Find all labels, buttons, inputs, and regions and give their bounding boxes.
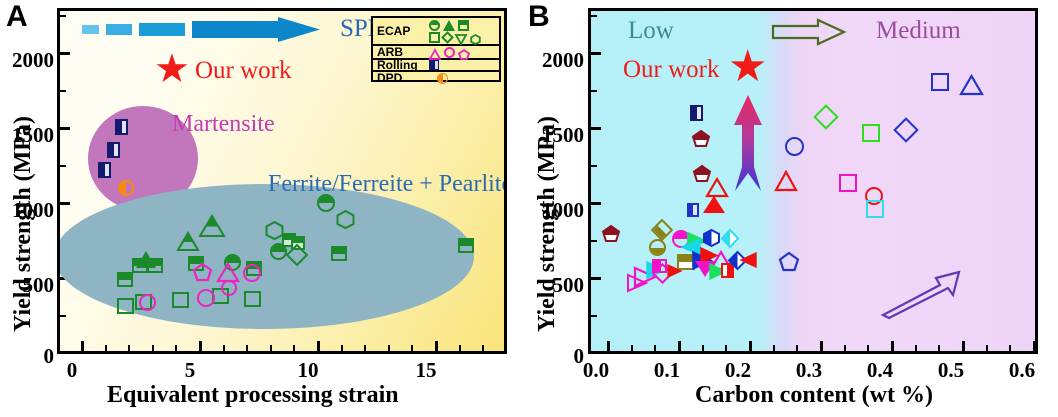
ytick-minor (590, 315, 597, 317)
legend-markers-rolling (429, 60, 439, 70)
transition-arrow-icon (771, 19, 846, 45)
ytick-minor (59, 15, 66, 17)
xtick-minor (1009, 345, 1011, 352)
xtick-minor (246, 345, 248, 352)
panel-b-x-tick-04: 0.4 (850, 358, 910, 383)
panel-b-x-axis-title: Carbon content (wt %) (695, 382, 933, 409)
xtick-minor (223, 345, 225, 352)
ytick-major (59, 352, 70, 354)
marker-triangle-up-filled-icon (443, 20, 455, 31)
xtick-minor (844, 345, 846, 352)
panel-a-y-tick-1500: 1500 (0, 123, 54, 148)
ytick-minor (590, 15, 597, 17)
data-point-ecap-circle-half (317, 194, 335, 212)
ytick-minor (590, 90, 597, 92)
data-point-arb-pentagon (193, 263, 212, 281)
panel-b-y-tick-500: 500 (514, 273, 584, 298)
data-point-triangle-blue-open (960, 75, 983, 95)
data-point-circle-olive-half (649, 239, 666, 256)
xtick-major (607, 341, 610, 352)
xtick-minor (388, 345, 390, 352)
xtick-minor (175, 345, 177, 352)
data-point-dpd (118, 180, 134, 196)
panel-b-x-tick-03: 0.3 (779, 358, 839, 383)
trend-arrow-icon (881, 269, 963, 319)
medium-band-label: Medium (876, 17, 961, 45)
improvement-arrow-icon (731, 95, 765, 191)
xtick-minor (773, 345, 775, 352)
data-point-rolling (115, 119, 128, 135)
xtick-minor (867, 345, 869, 352)
data-point-pentagon-blue-open (779, 252, 799, 271)
panel-b-x-tick-02: 0.2 (708, 358, 768, 383)
panel-b-letter: B (528, 2, 550, 32)
marker-square-half-left-icon (429, 60, 439, 70)
spd-arrow (82, 17, 332, 43)
panel-a-letter: A (6, 2, 28, 32)
data-point-ecap-square-open (117, 298, 134, 314)
marker-circle-open-icon (444, 47, 455, 58)
legend-label-arb: ARB (373, 45, 429, 59)
panel-b-y-tick-1500: 1500 (514, 123, 584, 148)
marker-circle-half-top-icon (429, 20, 440, 31)
xtick-major (81, 341, 84, 352)
xtick-major (820, 341, 823, 352)
ytick-minor (59, 165, 66, 167)
xtick-minor (341, 345, 343, 352)
xtick-minor (364, 345, 366, 352)
xtick-major (435, 341, 438, 352)
our-work-label-a: Our work (195, 57, 292, 85)
ytick-minor (590, 240, 597, 242)
xtick-major (678, 341, 681, 352)
data-point-ecap-hexagon (336, 210, 355, 229)
data-point-rolling-navy (690, 105, 703, 121)
panel-b-x-tick-01: 0.1 (637, 358, 697, 383)
panel-a-y-tick-2000: 2000 (0, 48, 54, 73)
ytick-minor (590, 165, 597, 167)
data-point-square-cyan-open (866, 200, 884, 218)
xtick-minor (631, 345, 633, 352)
panel-a-x-axis-title: Equivalent processing strain (107, 382, 399, 409)
data-point-triangle-red-left (740, 252, 757, 268)
marker-triangle-down-open-icon (455, 32, 467, 43)
legend-markers-ecap-row1 (429, 20, 481, 31)
data-point-arb-circle (243, 264, 261, 282)
xtick-major (891, 341, 894, 352)
data-point-ecap-square-half (117, 272, 133, 287)
xtick-minor (105, 345, 107, 352)
marker-diamond-open-icon (441, 31, 454, 44)
panel-a-plot-area: SPD ★ Our work Martensite Ferrite/Ferrei… (57, 8, 507, 354)
ytick-minor (59, 315, 66, 317)
marker-square-open-icon (429, 32, 440, 43)
data-point-square-blue-open (931, 73, 949, 91)
data-point-ecap-triangle-half (200, 216, 224, 237)
panel-b-plot-area: Low Medium Our work ★ (588, 8, 1038, 354)
marker-circle-half-left-icon (437, 73, 448, 84)
xtick-minor (938, 345, 940, 352)
marker-square-half-top-icon (458, 20, 469, 31)
ytick-major (59, 127, 70, 130)
marker-pentagon-open-icon (458, 47, 470, 58)
data-point-diamond-cyan-half (721, 229, 739, 248)
data-point-ecap-square-half (132, 258, 148, 273)
xtick-minor (411, 345, 413, 352)
ytick-major (59, 52, 70, 55)
legend-markers-dpd (429, 73, 448, 84)
ytick-major (590, 127, 601, 130)
ytick-major (590, 202, 601, 205)
panel-b-x-tick-06: 0.6 (992, 358, 1052, 383)
data-point-arb-circle (139, 294, 156, 311)
xtick-major (317, 341, 320, 352)
legend-box: ECAP (371, 16, 501, 82)
data-point-triangle-red-open (706, 178, 728, 197)
xtick-minor (986, 345, 988, 352)
legend-label-rolling: Rolling (373, 58, 429, 72)
our-work-label-b: Our work (623, 56, 720, 84)
panel-b-y-axis-title: Yield strength (MPa) (534, 116, 561, 332)
xtick-minor (796, 345, 798, 352)
xtick-minor (128, 345, 130, 352)
figure-root: A Yield strength (MPa) 0 500 1000 1500 2… (0, 0, 1058, 417)
data-point-ecap-square-half (147, 258, 163, 273)
data-point-rolling (98, 162, 111, 178)
xtick-major (199, 341, 202, 352)
panel-a-x-tick-0: 0 (42, 358, 102, 383)
our-work-star-icon-b: ★ (728, 45, 767, 89)
panel-b: B Yield strength (MPa) 0 500 1000 1500 2… (520, 0, 1058, 417)
data-point-ecap-square-half (458, 238, 474, 253)
legend-markers-arb (429, 47, 470, 58)
data-point-square-magenta-open (839, 174, 857, 192)
data-point-ecap-square-open (172, 292, 189, 308)
ytick-major (590, 52, 601, 55)
xtick-minor (482, 345, 484, 352)
ferrite-label: Ferrite/Ferreite + Pearlite (268, 171, 507, 198)
legend-label-ecap: ECAP (373, 24, 429, 38)
data-point-square-green-open (862, 124, 880, 142)
xtick-minor (725, 345, 727, 352)
legend-row-dpd: DPD (373, 72, 499, 84)
xtick-major (1033, 341, 1036, 352)
xtick-minor (293, 345, 295, 352)
data-point-pentagon-darkred (602, 225, 620, 242)
xtick-minor (459, 345, 461, 352)
marker-triangle-up-open-icon (429, 47, 441, 58)
panel-b-x-tick-05: 0.5 (921, 358, 981, 383)
xtick-major (749, 341, 752, 352)
panel-a-y-tick-1000: 1000 (0, 198, 54, 223)
data-point-triangle-red-open (775, 171, 797, 191)
data-point-ecap-square-open (244, 291, 261, 307)
legend-markers-ecap (429, 20, 481, 43)
martensite-label: Martensite (172, 111, 275, 138)
xtick-major (962, 341, 965, 352)
data-point-square-blue-half (687, 203, 699, 217)
ytick-minor (59, 90, 66, 92)
data-point-ecap-square-half (331, 246, 347, 261)
xtick-minor (270, 345, 272, 352)
xtick-minor (152, 345, 154, 352)
panel-a-x-tick-10: 10 (278, 358, 338, 383)
data-point-ecap-hexagon (265, 221, 284, 240)
ytick-major (590, 352, 601, 354)
panel-b-y-tick-1000: 1000 (514, 198, 584, 223)
data-point-hexagon-blue-half (703, 229, 720, 247)
ytick-major (59, 202, 70, 205)
panel-a-x-tick-5: 5 (160, 358, 220, 383)
data-point-ecap-triangle-half (178, 233, 198, 251)
marker-hexagon-open-icon (470, 32, 481, 43)
data-point-triangle-red-right (667, 264, 682, 278)
data-point-pentagon-darkred (692, 130, 710, 147)
data-point-rolling (107, 142, 120, 158)
panel-b-x-tick-00: 0.0 (566, 358, 626, 383)
panel-a-y-tick-500: 500 (0, 273, 54, 298)
legend-row-ecap: ECAP (373, 18, 499, 46)
data-point-arb-circle (221, 280, 237, 296)
legend-label-dpd: DPD (373, 71, 429, 85)
low-band-label: Low (628, 17, 674, 45)
data-point-ecap-circle-half (270, 243, 287, 260)
ytick-major (590, 277, 601, 280)
xtick-minor (702, 345, 704, 352)
data-point-triangle-red-filled (703, 196, 725, 213)
xtick-minor (654, 345, 656, 352)
data-point-triangle-magenta-right-open (627, 274, 647, 292)
legend-markers-ecap-row2 (429, 32, 481, 43)
data-point-circle-blue-open (785, 137, 804, 156)
panel-a-y-axis-title: Yield strength (MPa) (10, 116, 37, 332)
panel-a: A Yield strength (MPa) 0 500 1000 1500 2… (0, 0, 520, 417)
panel-a-x-tick-15: 15 (396, 358, 456, 383)
xtick-minor (915, 345, 917, 352)
panel-b-y-tick-2000: 2000 (514, 48, 584, 73)
our-work-star-icon: ★ (154, 49, 190, 89)
data-point-arb-circle (197, 289, 215, 307)
